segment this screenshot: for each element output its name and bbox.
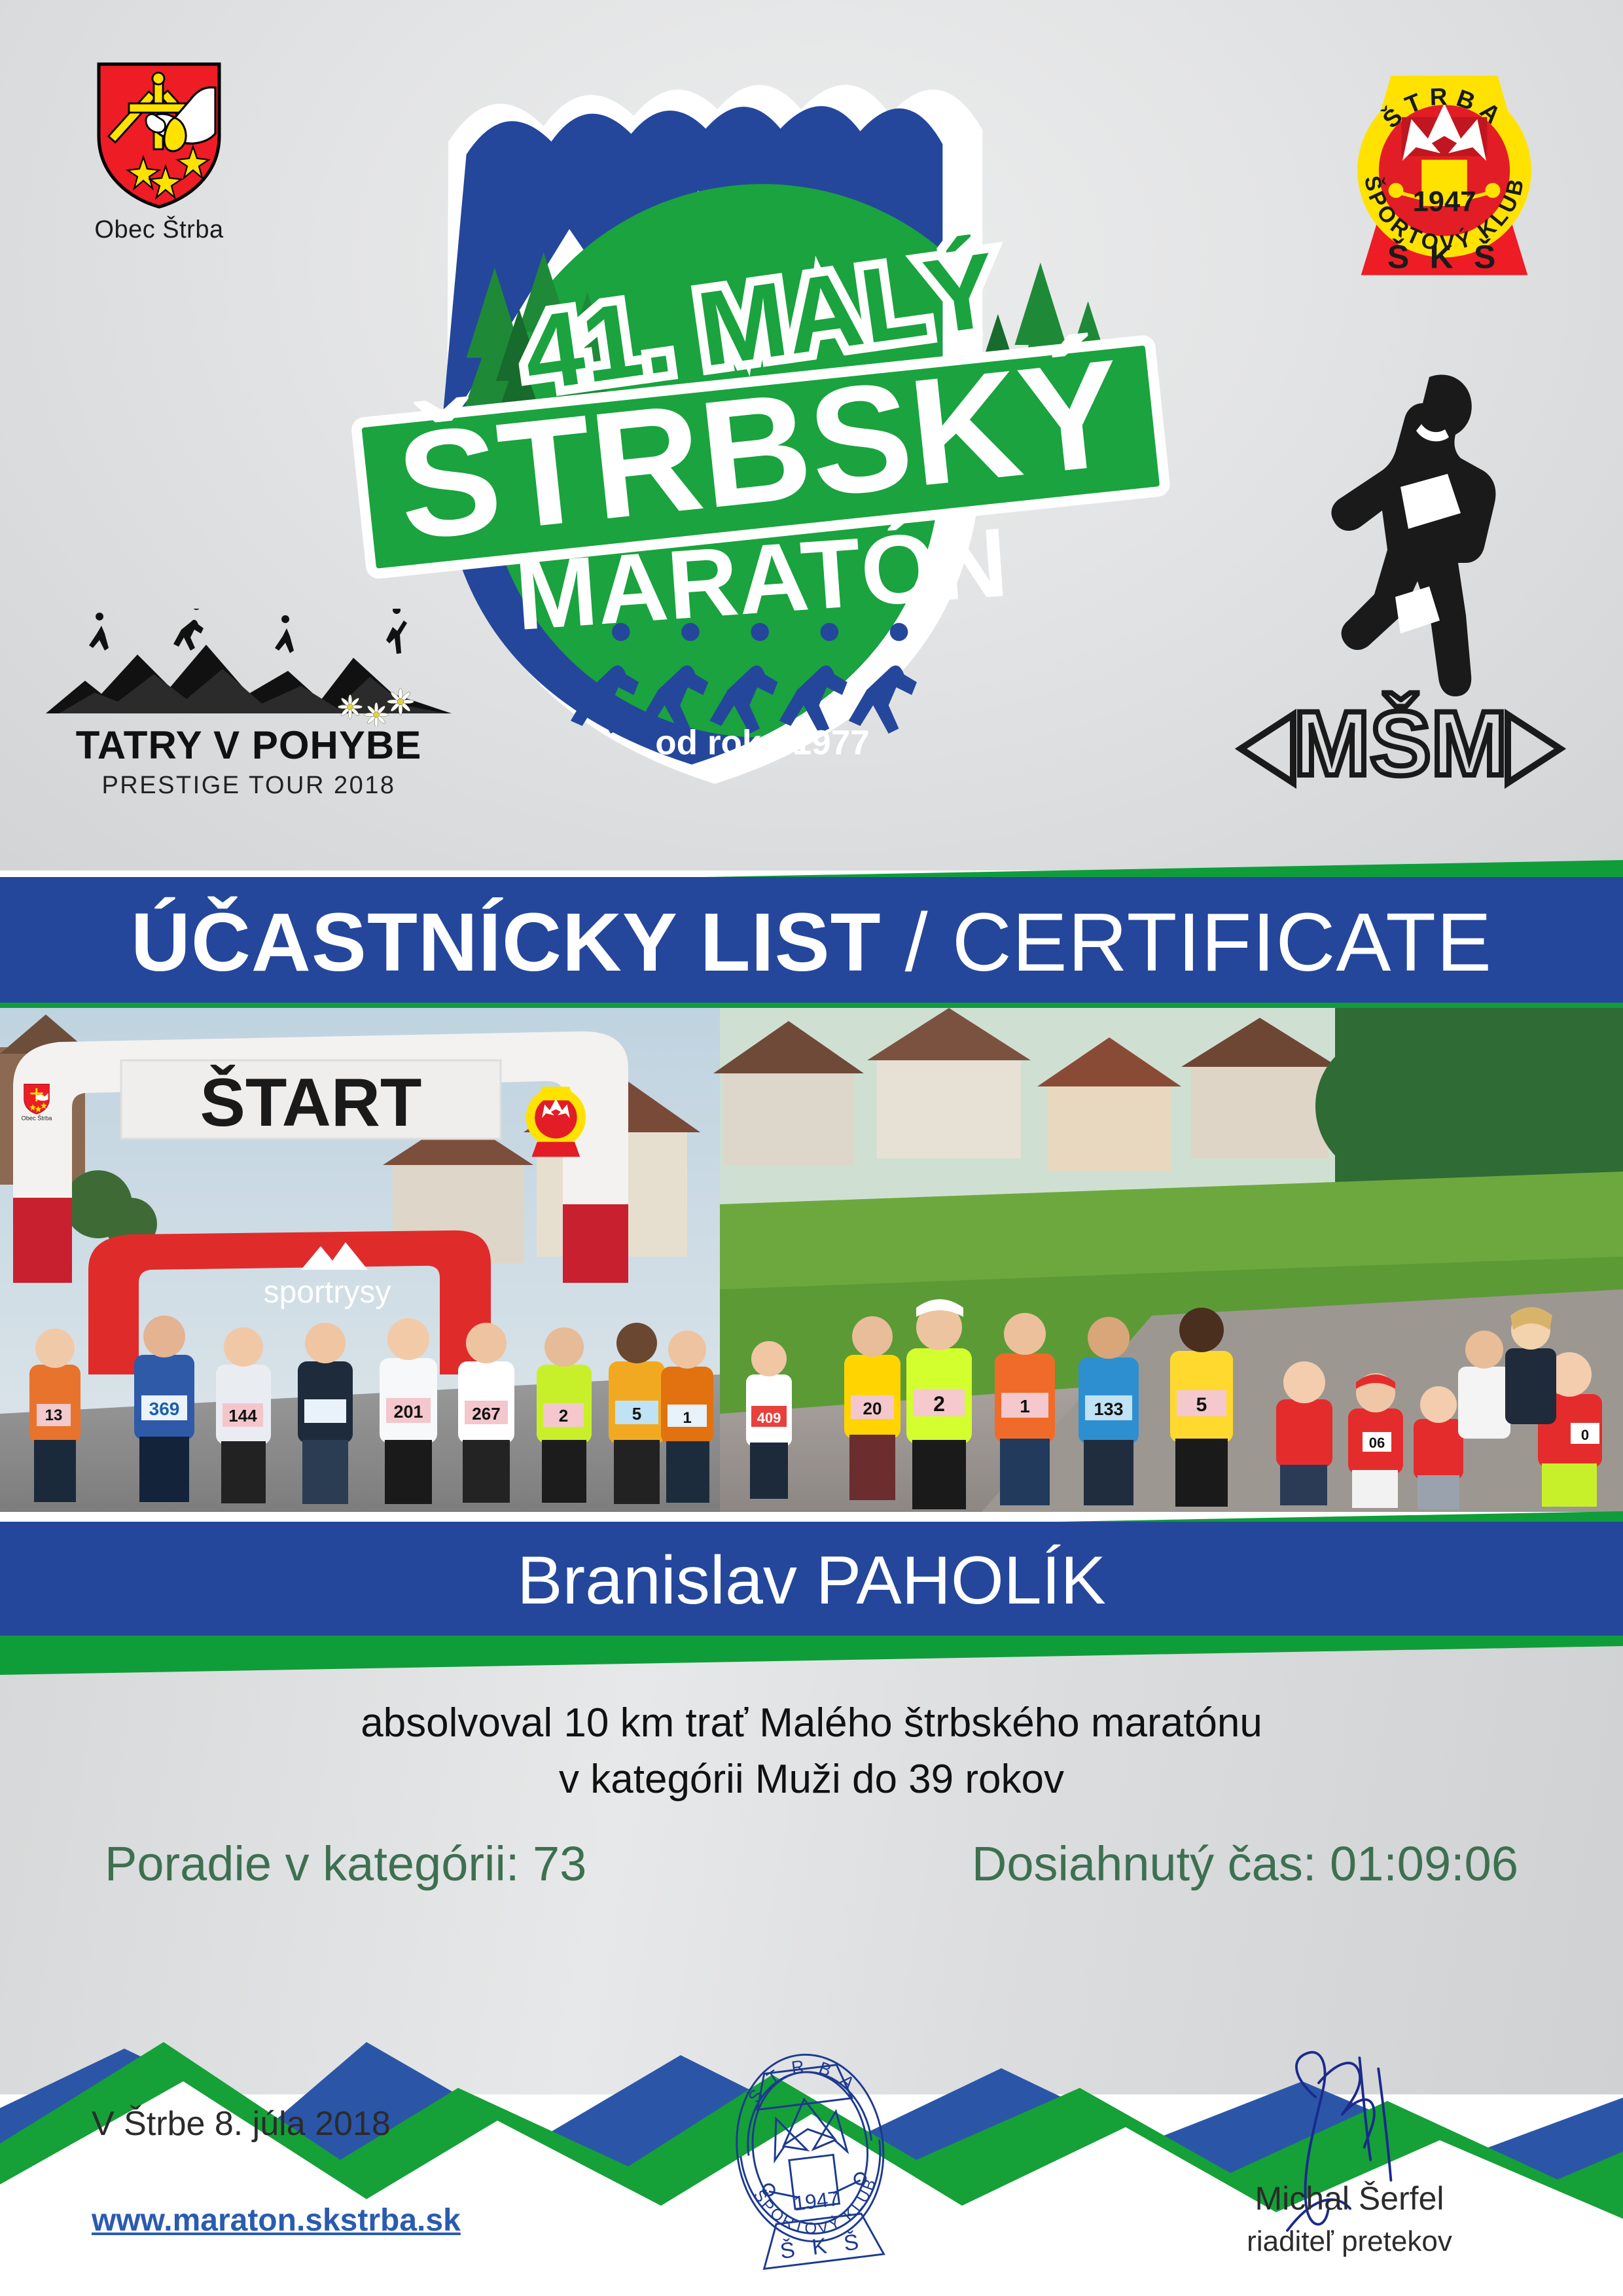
svg-text:5: 5 (632, 1404, 641, 1424)
runner-silhouette-icon: MŠM (1230, 340, 1571, 798)
certificate-title: ÚČASTNÍCKY LIST / CERTIFICATE (0, 877, 1623, 1008)
place-and-date: V Štrbe 8. júla 2018 (92, 2104, 391, 2144)
svg-text:267: 267 (472, 1404, 500, 1424)
tour-subtitle: PRESTIGE TOUR 2018 (39, 772, 458, 800)
certificate-title-en: CERTIFICATE (952, 896, 1492, 988)
club-logo: 1947 ŠTRBA ŠPORTOVÝ KLUB Š K Š (1336, 46, 1552, 288)
strba-coat-of-arms-icon (84, 60, 234, 211)
arch-sponsor-text: sportrysy (264, 1275, 391, 1310)
svg-text:2: 2 (933, 1392, 945, 1416)
certificate-title-separator: / (882, 896, 952, 988)
svg-text:2: 2 (559, 1406, 568, 1426)
tatry-mountains-icon (39, 609, 458, 726)
svg-text:409: 409 (757, 1410, 781, 1426)
arch-start-text: ŠTART (200, 1064, 422, 1141)
sks-strba-club-icon: 1947 ŠTRBA ŠPORTOVÝ KLUB Š K Š (1336, 46, 1552, 288)
tour-logo: TATRY V POHYBE PRESTIGE TOUR 2018 (39, 609, 458, 798)
race-photo-illustration: ŠTART Obec Štrba (0, 1008, 1623, 1512)
club-stamp-icon: Š T R B A ŠPORTOVÝ KLUB 1947 Š K Š (690, 2029, 933, 2291)
website-link[interactable]: www.maraton.skstrba.sk (92, 2202, 461, 2238)
participant-name: Branislav PAHOLÍK (0, 1522, 1623, 1640)
svg-text:369: 369 (149, 1399, 180, 1419)
svg-text:06: 06 (1369, 1435, 1385, 1451)
event-since-text: od roku 1977 (655, 723, 870, 762)
svg-text:20: 20 (863, 1399, 882, 1418)
svg-text:144: 144 (228, 1406, 257, 1426)
tour-title: TATRY V POHYBE (39, 723, 458, 768)
svg-text:133: 133 (1094, 1399, 1123, 1419)
certificate-title-sk: ÚČASTNÍCKY LIST (131, 896, 882, 988)
msm-logo: MŠM (1230, 340, 1571, 798)
signatory-role: riaditeľ pretekov (1147, 2225, 1552, 2258)
header-section: Obec Štrba 19 (0, 0, 1623, 870)
category-rank: Poradie v kategórii: 73 (105, 1836, 586, 1892)
svg-text:1: 1 (683, 1409, 691, 1427)
svg-text:201: 201 (393, 1402, 423, 1422)
achievement-description: absolvoval 10 km trať Malého štrbského m… (0, 1695, 1623, 1807)
club-stamp: Š T R B A ŠPORTOVÝ KLUB 1947 Š K Š (690, 2029, 933, 2291)
name-band-green-bottom (0, 1636, 1623, 1676)
signatory-name: Michal Šerfel (1147, 2179, 1552, 2217)
svg-text:0: 0 (1581, 1427, 1589, 1443)
svg-text:1: 1 (1020, 1396, 1030, 1416)
finish-time: Dosiahnutý čas: 01:09:06 (972, 1836, 1518, 1892)
svg-text:1947: 1947 (793, 2186, 841, 2215)
results-row: Poradie v kategórii: 73 Dosiahnutý čas: … (0, 1836, 1623, 1892)
club-year: 1947 (1413, 186, 1476, 217)
certificate-page: Obec Štrba 19 (0, 0, 1623, 2296)
municipality-label: Obec Štrba (77, 216, 241, 244)
achievement-line-1: absolvoval 10 km trať Malého štrbského m… (0, 1695, 1623, 1751)
msm-label: MŠM (1294, 692, 1508, 795)
race-photo: ŠTART Obec Štrba (0, 1008, 1623, 1512)
svg-text:13: 13 (45, 1407, 63, 1424)
svg-text:Š K Š: Š K Š (1387, 238, 1501, 276)
svg-text:Obec Štrba: Obec Štrba (22, 1115, 53, 1122)
participant-name-band: Branislav PAHOLÍK (0, 1502, 1623, 1679)
achievement-line-2: v kategórii Muži do 39 rokov (0, 1751, 1623, 1808)
municipality-logo: Obec Štrba (77, 60, 241, 244)
svg-text:5: 5 (1196, 1394, 1207, 1416)
